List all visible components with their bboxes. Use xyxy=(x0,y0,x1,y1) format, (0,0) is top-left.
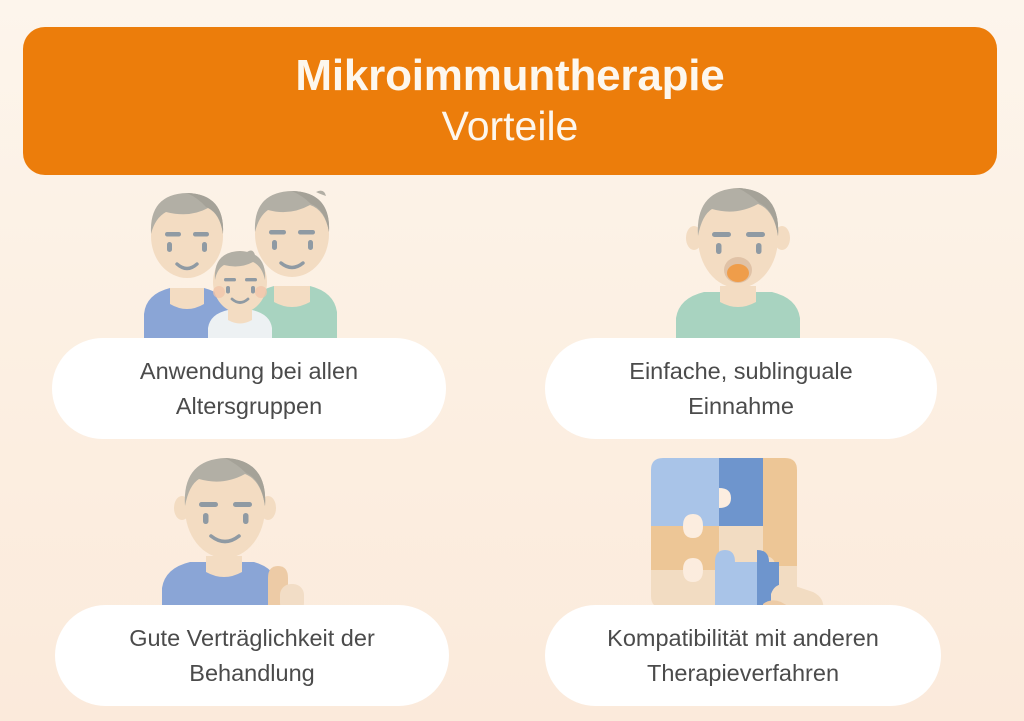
page-subtitle: Vorteile xyxy=(442,104,579,149)
open-mouth-person-illustration xyxy=(668,182,808,346)
header-banner: Mikroimmuntherapie Vorteile xyxy=(23,27,997,175)
benefit-card-all-age-groups[interactable]: Anwendung bei allen Altersgruppen xyxy=(52,338,446,439)
sublingual-intake-icon xyxy=(668,182,808,346)
benefit-card-sublingual-intake[interactable]: Einfache, sublinguale Einnahme xyxy=(545,338,937,439)
benefit-card-line-1: Gute Verträglichkeit der xyxy=(129,621,375,656)
benefit-card-compatibility[interactable]: Kompatibilität mit anderen Therapieverfa… xyxy=(545,605,941,706)
infographic-canvas: Mikroimmuntherapie Vorteile xyxy=(0,0,1024,721)
benefit-card-good-tolerability[interactable]: Gute Verträglichkeit der Behandlung xyxy=(55,605,449,706)
benefit-card-line-2: Therapieverfahren xyxy=(647,656,839,691)
benefit-card-line-1: Anwendung bei allen xyxy=(140,354,358,389)
page-title: Mikroimmuntherapie xyxy=(295,53,724,99)
family-icon xyxy=(140,186,340,346)
benefit-card-line-1: Einfache, sublinguale xyxy=(629,354,852,389)
puzzle-pieces-illustration xyxy=(645,452,830,614)
puzzle-icon xyxy=(645,452,830,614)
benefit-card-line-2: Einnahme xyxy=(688,389,794,424)
benefit-card-line-2: Altersgruppen xyxy=(176,389,322,424)
thumbs-up-person-illustration xyxy=(162,452,312,614)
benefit-card-line-2: Behandlung xyxy=(189,656,314,691)
family-illustration xyxy=(140,186,340,346)
benefit-card-line-1: Kompatibilität mit anderen xyxy=(607,621,879,656)
thumbs-up-icon xyxy=(162,452,312,614)
